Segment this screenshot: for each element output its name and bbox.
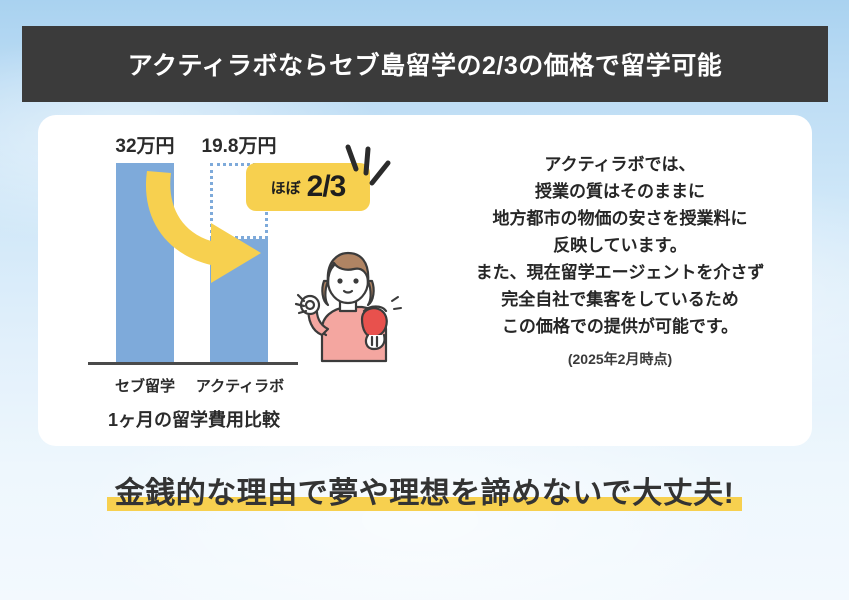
header-bar: アクティラボならセブ島留学の2/3の価格で留学可能: [22, 26, 828, 102]
bottom-banner: 金銭的な理由で夢や理想を諦めないで大丈夫!: [0, 462, 849, 518]
axis-label-cebu: セブ留学: [98, 375, 192, 396]
info-line: また、現在留学エージェントを介さず: [428, 259, 812, 286]
info-line: 完全自社で集客をしているため: [428, 286, 812, 313]
info-line: 地方都市の物価の安さを授業料に: [428, 205, 812, 232]
badge-prefix-label: ほぼ: [271, 177, 301, 198]
axis-label-actilabo: アクティラボ: [190, 375, 290, 396]
info-line: アクティラボでは、: [428, 151, 812, 178]
cost-comparison-chart: 32万円 19.8万円 セブ留学 アクティラボ 1ヶ月の留学費用比較 ほぼ 2/…: [38, 115, 428, 446]
banner-inner: 金銭的な理由で夢や理想を諦めないで大丈夫!: [107, 468, 743, 512]
bar-actilabo: [210, 239, 268, 363]
bar-cebu: [116, 163, 174, 363]
fraction-badge: ほぼ 2/3: [246, 163, 370, 211]
banner-message: 金銭的な理由で夢や理想を諦めないで大丈夫!: [115, 468, 735, 512]
info-line: この価格での提供が可能です。: [428, 313, 812, 340]
bar-value-cebu: 32万円: [106, 131, 184, 158]
chart-caption: 1ヶ月の留学費用比較: [88, 406, 300, 432]
woman-with-wallet-illustration: [288, 243, 408, 363]
badge-fraction-label: 2/3: [307, 170, 346, 204]
info-line: 反映しています。: [428, 232, 812, 259]
poster-canvas: アクティラボならセブ島留学の2/3の価格で留学可能 32万円 19.8万円 セブ…: [0, 0, 849, 600]
page-title: アクティラボならセブ島留学の2/3の価格で留学可能: [128, 46, 723, 82]
explanation-text-block: アクティラボでは、 授業の質はそのままに 地方都市の物価の安さを授業料に 反映し…: [428, 151, 812, 369]
info-note: (2025年2月時点): [428, 349, 812, 369]
content-card: 32万円 19.8万円 セブ留学 アクティラボ 1ヶ月の留学費用比較 ほぼ 2/…: [38, 115, 812, 446]
chart-baseline-axis: [88, 362, 298, 365]
info-line: 授業の質はそのままに: [428, 178, 812, 205]
bar-value-actilabo: 19.8万円: [196, 131, 282, 158]
